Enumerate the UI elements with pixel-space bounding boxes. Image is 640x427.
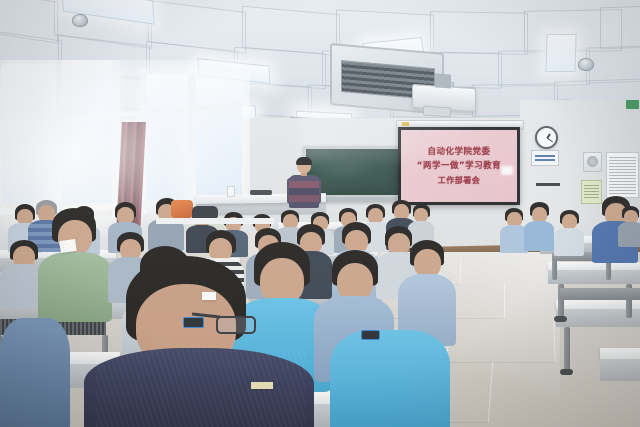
orange-bag [171,200,193,218]
paper-sheet [202,292,216,300]
audience-member [618,206,640,246]
audience-member [0,318,70,427]
wall-speaker [583,152,602,172]
wall-poster [606,152,639,198]
chair-back [560,288,640,300]
glasses-icon [216,316,256,334]
presenter-striped-shirt [289,175,319,208]
shirt-texture [96,350,306,427]
desk-equipment [250,190,272,195]
paper-sheet [59,239,77,253]
back-counter [156,218,274,224]
exit-sign [626,100,639,109]
slide-line-3: 工作部署会 [438,177,481,185]
clock-minute-hand [546,137,552,142]
dome-camera [578,58,594,71]
classroom-photo: 自动化学院党委 “两学一做”学习教育 工作部署会 [0,0,640,427]
clock-sign [531,150,559,166]
cup [227,186,235,197]
smartphone [361,330,380,340]
paper-sheet [251,382,273,389]
dome-camera [72,14,88,27]
smartphone [183,317,204,328]
slide-line-2: “两学一做”学习教育 [417,162,501,171]
wall-clock [535,126,558,149]
audience-member [330,330,450,427]
presenter-hair [296,157,312,165]
audience-member [554,210,584,254]
audience-member [398,240,456,344]
audience-member [524,202,554,250]
presenter [287,158,321,208]
projector-beam [300,100,480,160]
fluorescent-light-panel [545,34,576,72]
wall-strip [536,183,560,186]
screen-hotspot-glare [501,166,513,175]
